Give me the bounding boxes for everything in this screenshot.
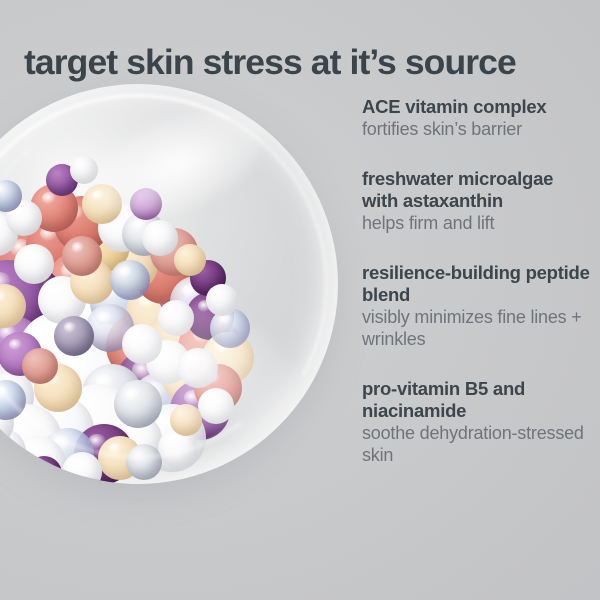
marketing-graphic: target skin stress at it’s source ACE vi… — [0, 0, 600, 600]
benefit-description: visibly minimizes fine lines + wrinkles — [362, 306, 590, 350]
benefit-item: ACE vitamin complex fortifies skin’s bar… — [362, 96, 590, 140]
micro-bead — [110, 260, 150, 300]
benefit-title: ACE vitamin complex — [362, 96, 590, 118]
micro-bead — [70, 156, 98, 184]
micro-bead — [22, 348, 58, 384]
micro-bead — [26, 456, 62, 484]
benefit-item: resilience-building peptide blend visibl… — [362, 262, 590, 350]
benefit-description: soothe dehydration-stressed skin — [362, 422, 590, 466]
glass-sphere-icon — [0, 84, 338, 484]
micro-bead — [62, 452, 102, 484]
product-ingredient-image — [0, 84, 338, 484]
micro-bead — [174, 244, 206, 276]
page-title: target skin stress at it’s source — [24, 42, 584, 82]
benefit-title: freshwater microalgae with astaxanthin — [362, 168, 590, 212]
benefit-item: freshwater microalgae with astaxanthin h… — [362, 168, 590, 234]
benefit-description: fortifies skin’s barrier — [362, 118, 590, 140]
benefit-description: helps firm and lift — [362, 212, 590, 234]
benefit-title: resilience-building peptide blend — [362, 262, 590, 306]
micro-bead — [54, 316, 94, 356]
micro-bead — [142, 220, 178, 256]
micro-bead — [14, 244, 54, 284]
benefit-item: pro-vitamin B5 and niacinamide soothe de… — [362, 378, 590, 466]
benefits-list: ACE vitamin complex fortifies skin’s bar… — [362, 96, 590, 466]
micro-bead — [126, 444, 162, 480]
micro-bead — [62, 236, 102, 276]
benefit-title: pro-vitamin B5 and niacinamide — [362, 378, 590, 422]
